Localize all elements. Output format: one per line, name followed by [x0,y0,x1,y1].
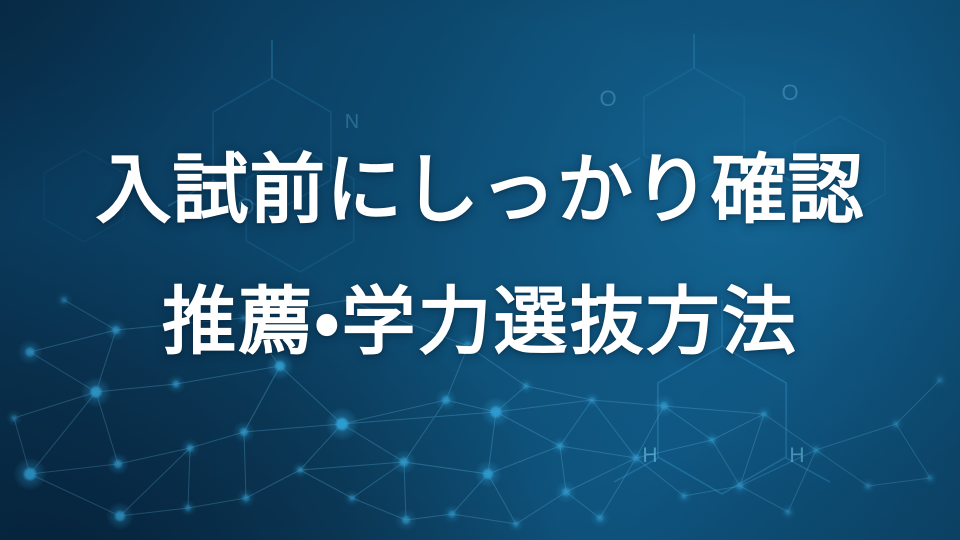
headline-line-2: 推薦・学力選抜方法 [162,283,798,361]
headline-block: 入試前にしっかり確認 推薦・学力選抜方法 [0,0,960,540]
slide-canvas: NOOOHH 入試前にしっかり確認 推薦・学力選抜方法 [0,0,960,540]
headline-line-1: 入試前にしっかり確認 [95,151,864,232]
